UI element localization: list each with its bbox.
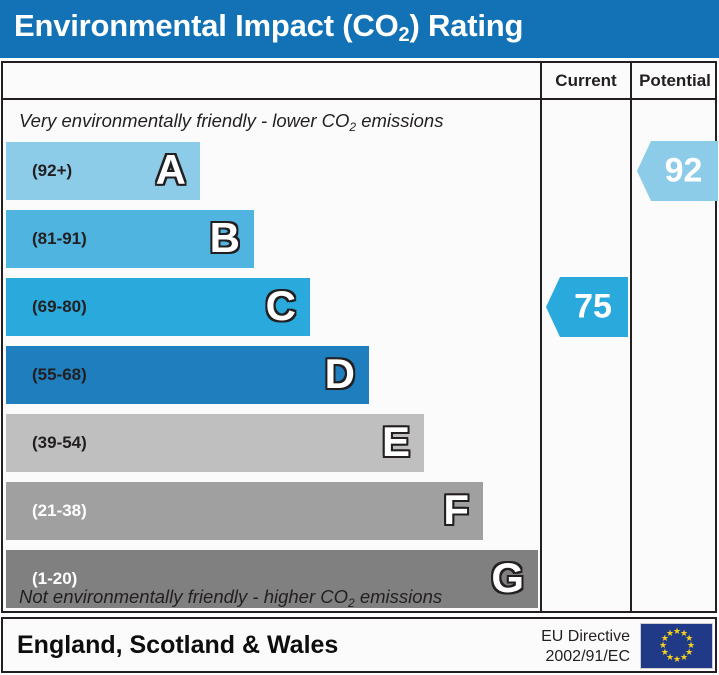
band-range-e: (39-54) (32, 433, 87, 453)
caption-top-subscript: 2 (349, 120, 356, 134)
epc-environmental-impact-certificate: Environmental Impact (CO2) Rating Curren… (0, 0, 719, 675)
column-header-potential: Potential (632, 71, 718, 91)
rating-table: Current Potential Very environmentally f… (1, 61, 717, 613)
eu-flag-icon: ★★★★★★★★★★★★ (640, 623, 713, 669)
band-b: (81-91)B (6, 210, 254, 268)
band-e: (39-54)E (6, 414, 424, 472)
footer-directive: EU Directive 2002/91/EC (508, 627, 630, 667)
band-letter-e: E (382, 421, 410, 463)
footer-directive-line1: EU Directive (508, 627, 630, 647)
band-range-c: (69-80) (32, 297, 87, 317)
band-d: (55-68)D (6, 346, 369, 404)
rating-value-potential: 92 (655, 153, 712, 187)
caption-bottom-subscript: 2 (348, 596, 355, 610)
caption-top: Very environmentally friendly - lower CO… (19, 110, 443, 132)
caption-bottom-suffix: emissions (355, 586, 442, 607)
footer-bar: England, Scotland & Wales EU Directive 2… (1, 617, 717, 673)
band-letter-f: F (443, 489, 469, 531)
band-c: (69-80)C (6, 278, 310, 336)
band-range-f: (21-38) (32, 501, 87, 521)
caption-top-suffix: emissions (356, 110, 443, 131)
band-f: (21-38)F (6, 482, 483, 540)
band-letter-d: D (325, 353, 355, 395)
title-prefix: Environmental Impact (CO (14, 8, 399, 43)
column-divider-potential (630, 63, 632, 611)
rating-value-current: 75 (564, 289, 622, 323)
rating-arrow-current: 75 (546, 277, 628, 337)
caption-bottom-prefix: Not environmentally friendly - higher CO (19, 586, 348, 607)
band-letter-g: G (491, 557, 524, 599)
band-letter-b: B (210, 217, 240, 259)
band-letter-a: A (156, 149, 186, 191)
column-divider-current (540, 63, 542, 611)
title-suffix: ) Rating (409, 8, 523, 43)
footer-region-label: England, Scotland & Wales (17, 631, 338, 660)
caption-top-prefix: Very environmentally friendly - lower CO (19, 110, 349, 131)
band-range-d: (55-68) (32, 365, 87, 385)
column-header-current: Current (542, 71, 630, 91)
band-letter-c: C (266, 285, 296, 327)
title-subscript: 2 (399, 24, 410, 46)
rating-arrow-potential: 92 (637, 141, 718, 201)
band-range-b: (81-91) (32, 229, 87, 249)
caption-bottom: Not environmentally friendly - higher CO… (19, 586, 442, 608)
band-a: (92+)A (6, 142, 200, 200)
footer-directive-line2: 2002/91/EC (508, 647, 630, 667)
page-title: Environmental Impact (CO2) Rating (14, 8, 523, 44)
title-bar: Environmental Impact (CO2) Rating (0, 0, 719, 58)
band-range-a: (92+) (32, 161, 72, 181)
